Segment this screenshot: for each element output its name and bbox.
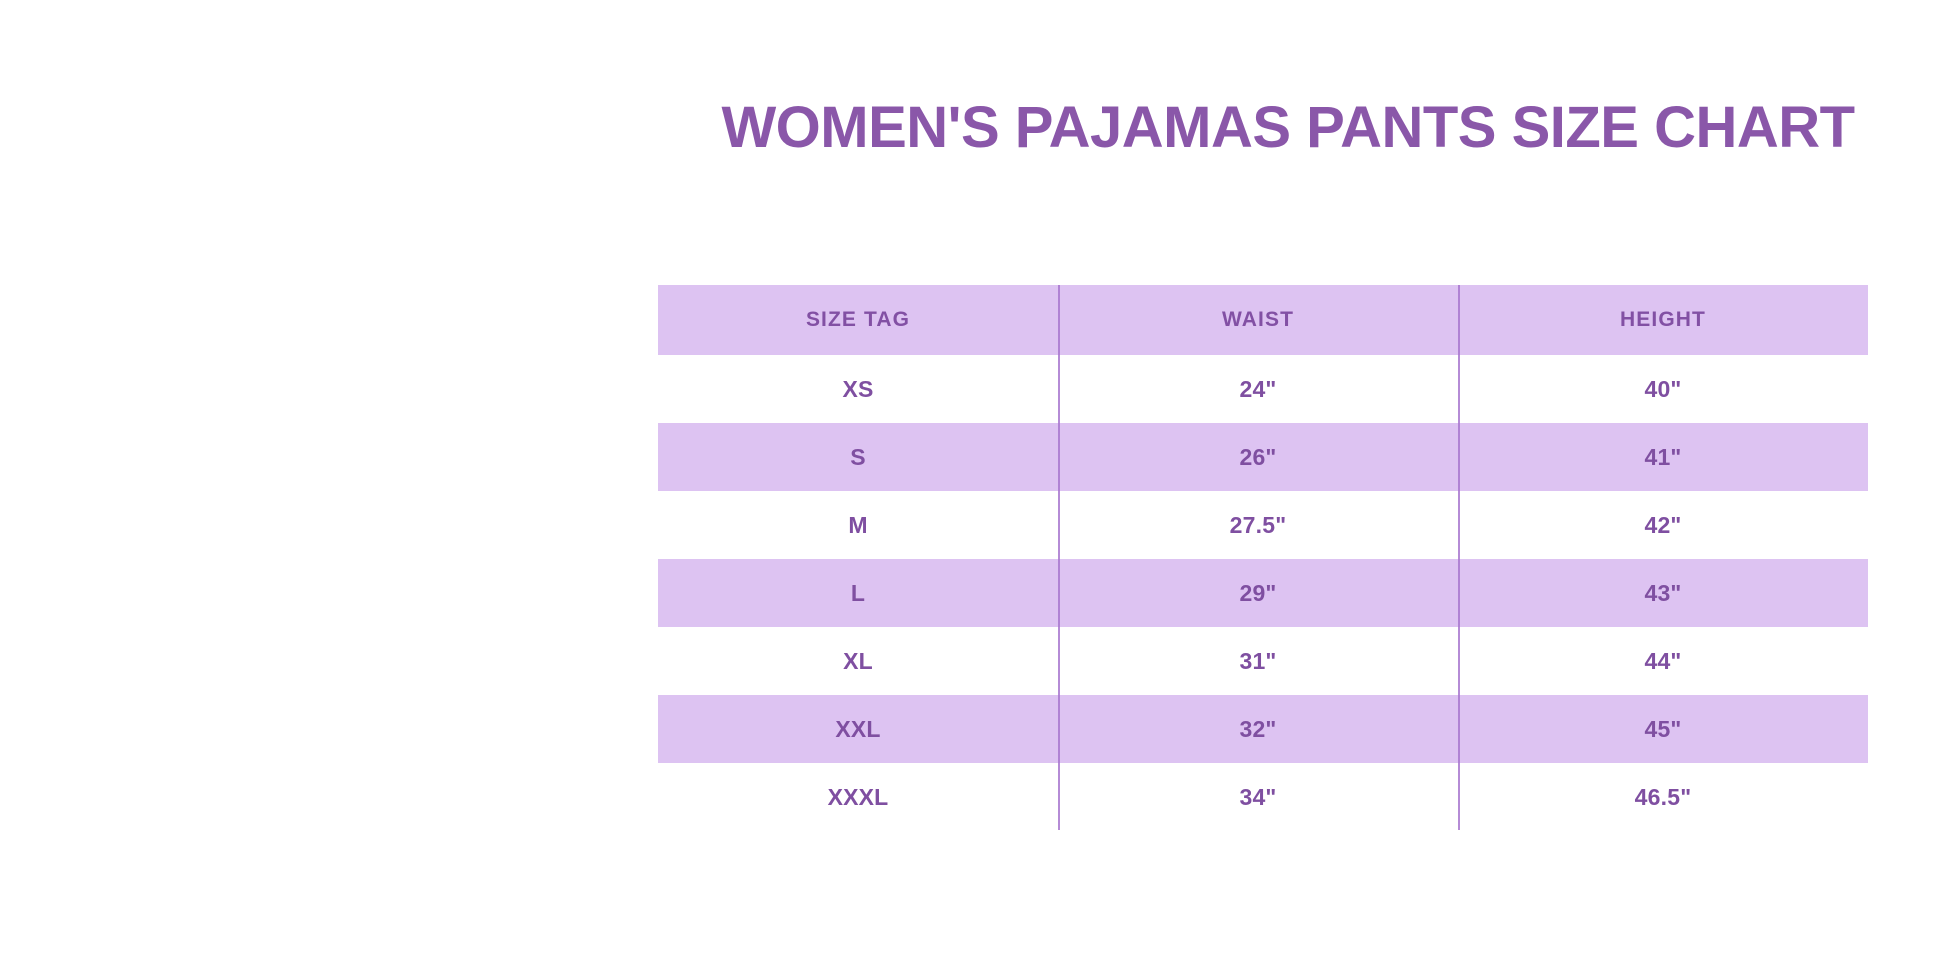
cell-waist: 24" <box>1058 355 1458 423</box>
size-chart-page: WOMEN'S PAJAMAS PANTS SIZE CHART SIZE TA… <box>0 0 1946 973</box>
cell-height: 40" <box>1458 355 1868 423</box>
cell-height: 42" <box>1458 491 1868 559</box>
table-row: XS 24" 40" <box>658 355 1868 423</box>
table-row: XXL 32" 45" <box>658 695 1868 763</box>
cell-size-tag: L <box>658 559 1058 627</box>
cell-waist: 34" <box>1058 763 1458 831</box>
column-header-height: HEIGHT <box>1458 285 1868 355</box>
table-header: SIZE TAG WAIST HEIGHT <box>658 285 1868 355</box>
table-row: XXXL 34" 46.5" <box>658 763 1868 831</box>
cell-waist: 27.5" <box>1058 491 1458 559</box>
cell-waist: 31" <box>1058 627 1458 695</box>
table-row: XL 31" 44" <box>658 627 1868 695</box>
cell-height: 45" <box>1458 695 1868 763</box>
table-row: M 27.5" 42" <box>658 491 1868 559</box>
cell-size-tag: M <box>658 491 1058 559</box>
table-row: S 26" 41" <box>658 423 1868 491</box>
cell-waist: 29" <box>1058 559 1458 627</box>
cell-waist: 32" <box>1058 695 1458 763</box>
size-chart-table: SIZE TAG WAIST HEIGHT XS 24" 40" S 26" 4… <box>658 285 1868 831</box>
cell-size-tag: S <box>658 423 1058 491</box>
cell-height: 41" <box>1458 423 1868 491</box>
size-chart-table-container: SIZE TAG WAIST HEIGHT XS 24" 40" S 26" 4… <box>658 285 1868 831</box>
cell-waist: 26" <box>1058 423 1458 491</box>
page-title: WOMEN'S PAJAMAS PANTS SIZE CHART <box>660 92 1916 164</box>
column-header-size-tag: SIZE TAG <box>658 285 1058 355</box>
table-body: XS 24" 40" S 26" 41" M 27.5" 42" L 29" <box>658 355 1868 831</box>
cell-height: 43" <box>1458 559 1868 627</box>
cell-size-tag: XL <box>658 627 1058 695</box>
column-header-waist: WAIST <box>1058 285 1458 355</box>
cell-size-tag: XS <box>658 355 1058 423</box>
table-row: L 29" 43" <box>658 559 1868 627</box>
cell-height: 44" <box>1458 627 1868 695</box>
cell-size-tag: XXL <box>658 695 1058 763</box>
cell-size-tag: XXXL <box>658 763 1058 831</box>
cell-height: 46.5" <box>1458 763 1868 831</box>
table-header-row: SIZE TAG WAIST HEIGHT <box>658 285 1868 355</box>
